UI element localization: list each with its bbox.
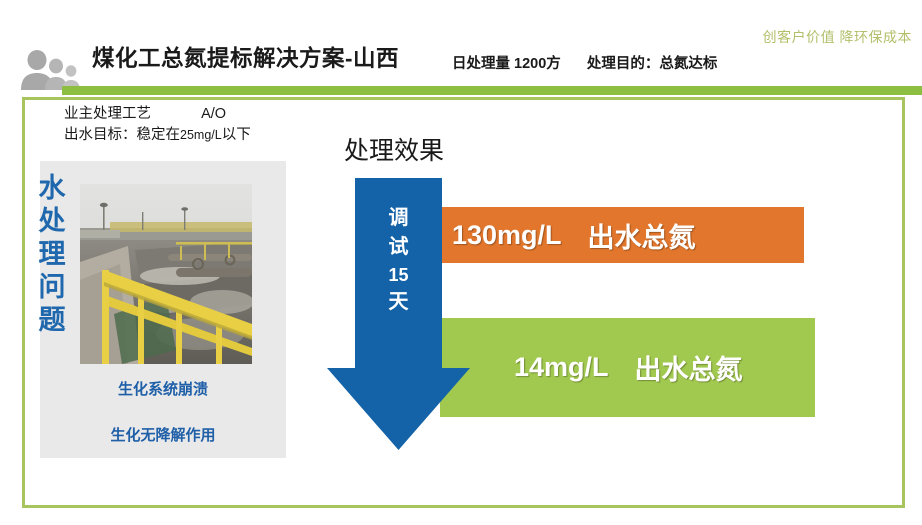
effluent-target-value: 25mg/L xyxy=(180,128,222,142)
owner-process-line: 业主处理工艺 A/O xyxy=(64,104,251,125)
result-bar-before: 130mg/L 出水总氮 xyxy=(440,207,804,263)
brand-tagline: 创客户价值 降环保成本 xyxy=(763,27,912,47)
result-value-after: 14mg/L xyxy=(514,352,609,383)
effluent-target-line: 出水目标：稳定在25mg/L以下 xyxy=(64,125,251,146)
commissioning-down-arrow: 调 试 15 天 xyxy=(327,178,470,450)
slide-header: 煤化工总氮提标解决方案-山西 日处理量 1200方 处理目的：总氮达标 创客户价… xyxy=(0,0,922,97)
owner-process-value: A/O xyxy=(201,106,226,122)
header-meta-capacity: 日处理量 1200方 xyxy=(452,56,561,72)
effluent-target-label: 出水目标：稳定在 xyxy=(64,127,180,143)
header-meta: 日处理量 1200方 处理目的：总氮达标 xyxy=(452,52,717,73)
result-label-before: 出水总氮 xyxy=(588,216,696,255)
header-divider xyxy=(62,86,922,95)
people-group-icon xyxy=(18,48,80,90)
problem-note: 生化无降解作用 xyxy=(40,424,286,445)
treatment-plant-photo xyxy=(80,184,252,364)
header-meta-purpose: 处理目的：总氮达标 xyxy=(587,56,718,72)
page-title: 煤化工总氮提标解决方案-山西 xyxy=(92,41,399,73)
result-bar-after: 14mg/L 出水总氮 xyxy=(440,318,815,417)
water-problem-vertical-label: 水处理问题 xyxy=(34,172,70,337)
effluent-target-suffix: 以下 xyxy=(222,127,251,143)
result-label-after: 出水总氮 xyxy=(635,348,743,387)
owner-process-label: 业主处理工艺 xyxy=(64,106,151,122)
owner-process-block: 业主处理工艺 A/O 出水目标：稳定在25mg/L以下 xyxy=(64,104,251,146)
problem-note: 生化系统崩溃 xyxy=(40,378,286,399)
effect-section-heading: 处理效果 xyxy=(344,131,444,167)
